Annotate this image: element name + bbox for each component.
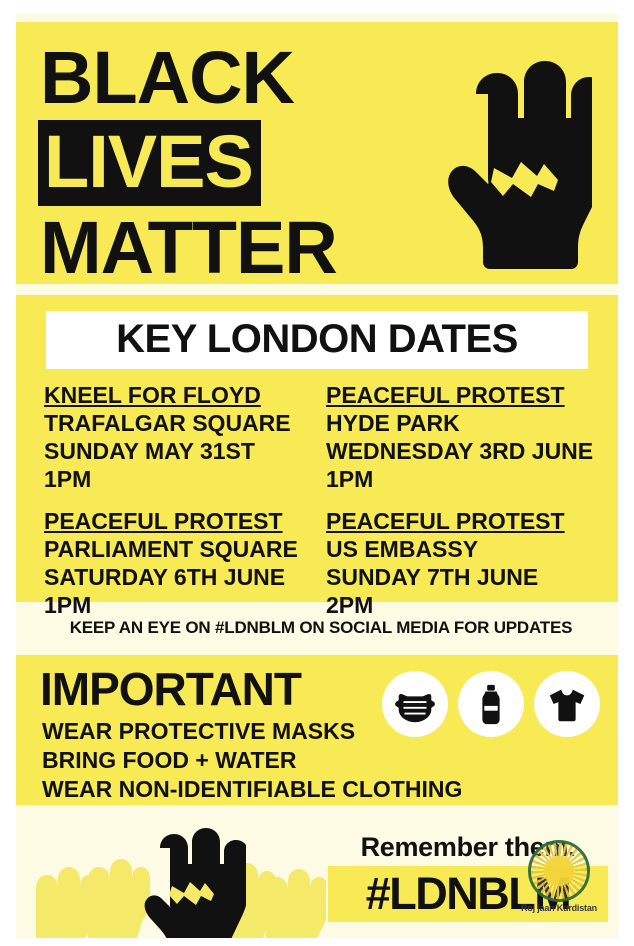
important-item: BRING FOOD + WATER xyxy=(42,746,462,775)
raised-fist-small-icon xyxy=(136,810,246,938)
event-title: PEACEFUL PROTEST xyxy=(326,381,608,409)
event-time: 1PM xyxy=(44,465,326,493)
event-location: TRAFALGAR SQUARE xyxy=(44,409,326,437)
key-dates-column-right: PEACEFUL PROTEST HYDE PARK WEDNESDAY 3RD… xyxy=(326,381,608,633)
event-title: KNEEL FOR FLOYD xyxy=(44,381,326,409)
watermark: Roj jaan Kurdistan xyxy=(520,840,598,918)
event-time: 1PM xyxy=(326,465,608,493)
key-dates-column-left: KNEEL FOR FLOYD TRAFALGAR SQUARE SUNDAY … xyxy=(44,381,326,633)
event-date: SATURDAY 6TH JUNE xyxy=(44,563,326,591)
event-title: PEACEFUL PROTEST xyxy=(326,507,608,535)
watermark-text: Roj jaan Kurdistan xyxy=(520,903,598,913)
headline-block: BLACK LIVES MATTER xyxy=(16,22,618,284)
event-item: PEACEFUL PROTEST US EMBASSY SUNDAY 7TH J… xyxy=(326,507,608,619)
important-item: WEAR NON-IDENTIFIABLE CLOTHING xyxy=(42,775,462,804)
event-location: PARLIAMENT SQUARE xyxy=(44,535,326,563)
headline-text: BLACK LIVES MATTER xyxy=(40,36,440,290)
page-margin-bottom xyxy=(0,938,634,946)
key-dates-block: KEY LONDON DATES KNEEL FOR FLOYD TRAFALG… xyxy=(16,295,618,602)
headline-line-black: BLACK xyxy=(40,36,440,120)
page-margin-top xyxy=(0,0,634,14)
safety-icon-row xyxy=(382,671,600,737)
water-bottle-icon xyxy=(458,671,524,737)
headline-line-matter: MATTER xyxy=(40,206,440,290)
poster-canvas: BLACK LIVES MATTER KEY LONDON DATES KNEE… xyxy=(0,0,634,946)
key-dates-title: KEY LONDON DATES xyxy=(46,311,588,369)
event-item: PEACEFUL PROTEST HYDE PARK WEDNESDAY 3RD… xyxy=(326,381,608,493)
page-margin-right xyxy=(618,0,634,946)
event-date: SUNDAY 7TH JUNE xyxy=(326,563,608,591)
important-title: IMPORTANT xyxy=(40,663,301,715)
event-item: PEACEFUL PROTEST PARLIAMENT SQUARE SATUR… xyxy=(44,507,326,619)
face-mask-icon xyxy=(382,671,448,737)
event-title: PEACEFUL PROTEST xyxy=(44,507,326,535)
important-block: IMPORTANT WEAR PROTECTIVE MASKS BRING FO… xyxy=(16,655,618,805)
key-dates-columns: KNEEL FOR FLOYD TRAFALGAR SQUARE SUNDAY … xyxy=(44,381,608,633)
event-date: SUNDAY MAY 31ST xyxy=(44,437,326,465)
event-location: US EMBASSY xyxy=(326,535,608,563)
t-shirt-icon xyxy=(534,671,600,737)
headline-line-lives: LIVES xyxy=(38,120,261,206)
raised-fist-icon xyxy=(442,40,592,270)
event-time: 1PM xyxy=(44,591,326,619)
event-item: KNEEL FOR FLOYD TRAFALGAR SQUARE SUNDAY … xyxy=(44,381,326,493)
event-date: WEDNESDAY 3RD JUNE xyxy=(326,437,608,465)
event-time: 2PM xyxy=(326,591,608,619)
kurdistan-sun-icon xyxy=(528,840,590,902)
page-margin-left xyxy=(0,0,16,946)
footer-block: Remember them. #LDNBLM Roj jaan Kurdista… xyxy=(16,810,618,938)
social-media-note: KEEP AN EYE ON #LDNBLM ON SOCIAL MEDIA F… xyxy=(26,618,616,638)
event-location: HYDE PARK xyxy=(326,409,608,437)
